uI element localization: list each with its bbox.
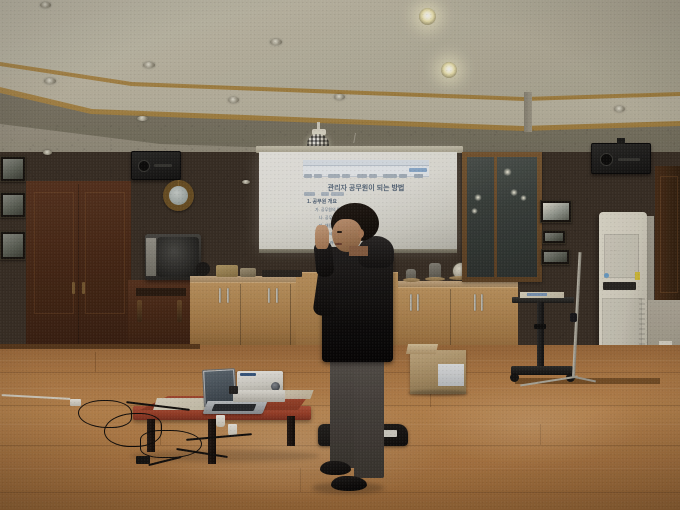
cabinet-handle[interactable] [72,282,75,294]
counter-items-left [240,268,256,277]
power-strip[interactable] [70,399,81,406]
tv-cabinet-handle[interactable] [137,300,142,322]
presenter-ear [358,229,364,238]
cardboard-box [410,350,466,394]
presenter-leg-front [354,350,384,478]
cabinet-panel-line [34,192,74,314]
decoration-plate [403,278,420,282]
framed-photo [540,200,572,223]
cabinet-handle[interactable] [410,294,412,311]
cabinet-handle[interactable] [268,288,270,303]
downlight-lit-icon [441,62,457,78]
av-cart-column [537,302,544,368]
window [462,152,542,282]
cabinet-handle[interactable] [219,288,221,303]
projector-dark-port [229,386,238,394]
framed-photo [0,156,26,182]
downlight-icon [614,106,625,112]
wall-clock [163,180,194,211]
downlight-lit-icon [419,8,436,25]
presenter-mouth [335,243,342,245]
downlight-icon [40,2,51,8]
cabinet-handle[interactable] [481,294,483,311]
cart-papers-blue [527,293,547,296]
cabinet-handle[interactable] [227,288,229,303]
tv-speaker-right [196,262,210,276]
ac-sticker-yellow [635,272,640,280]
speaker-bracket [617,138,625,144]
laptop-base[interactable] [202,401,267,414]
downlight-icon [228,97,239,103]
downlight-icon [143,62,155,68]
ac-brand-label: ····· [611,248,618,252]
crt-television [145,234,201,280]
ac-sticker-blue [604,273,609,278]
mic-stand-joint[interactable] [570,313,577,322]
presenter-shoe-back [320,461,351,475]
decoration-plate [425,277,445,281]
box-shadow [408,390,468,396]
av-cart-wheel [510,373,519,382]
cabinet-handle[interactable] [474,294,476,311]
downlight-icon [137,116,148,121]
cabinet-handle[interactable] [82,282,85,294]
tv-cabinet-front-panel [136,288,186,296]
cabinet-seam [290,284,291,346]
low-table-leg [287,416,295,446]
downlight-icon [44,78,56,84]
presenter-hand [315,225,329,249]
cabinet-handle[interactable] [417,294,419,311]
cabinet-seam [78,184,79,346]
wall-speaker-left [131,151,181,180]
downlight-icon [334,94,345,100]
power-adapter [136,456,150,464]
framed-photo [0,231,26,260]
av-cart-base [511,366,573,375]
photo-scene: 관리자 공무원이 되는 방법 1. 공무원 개요 가. 공무원의 뜻 나. 공무… [0,0,680,510]
presenter-shadow [312,482,384,494]
framed-photo [542,230,566,244]
counter-dark-item [262,270,302,277]
counter-items-left [216,265,238,277]
floor-cable [140,430,202,458]
presenter-neck [349,246,368,256]
framed-photo [0,192,26,218]
av-cart-clamp[interactable] [534,324,546,329]
door-panel-right[interactable] [660,176,678,293]
tv-cabinet-handle[interactable] [177,300,182,322]
projector-lower-body [233,390,285,402]
wall-speaker-right [591,143,651,174]
cabinet-seam [240,284,241,346]
cabinet-handle[interactable] [276,288,278,303]
cabinet-panel-line [85,192,125,314]
downlight-icon [270,39,282,45]
framed-photo [541,249,570,265]
presenter-eye [337,231,342,233]
paper-cup[interactable] [216,415,225,427]
